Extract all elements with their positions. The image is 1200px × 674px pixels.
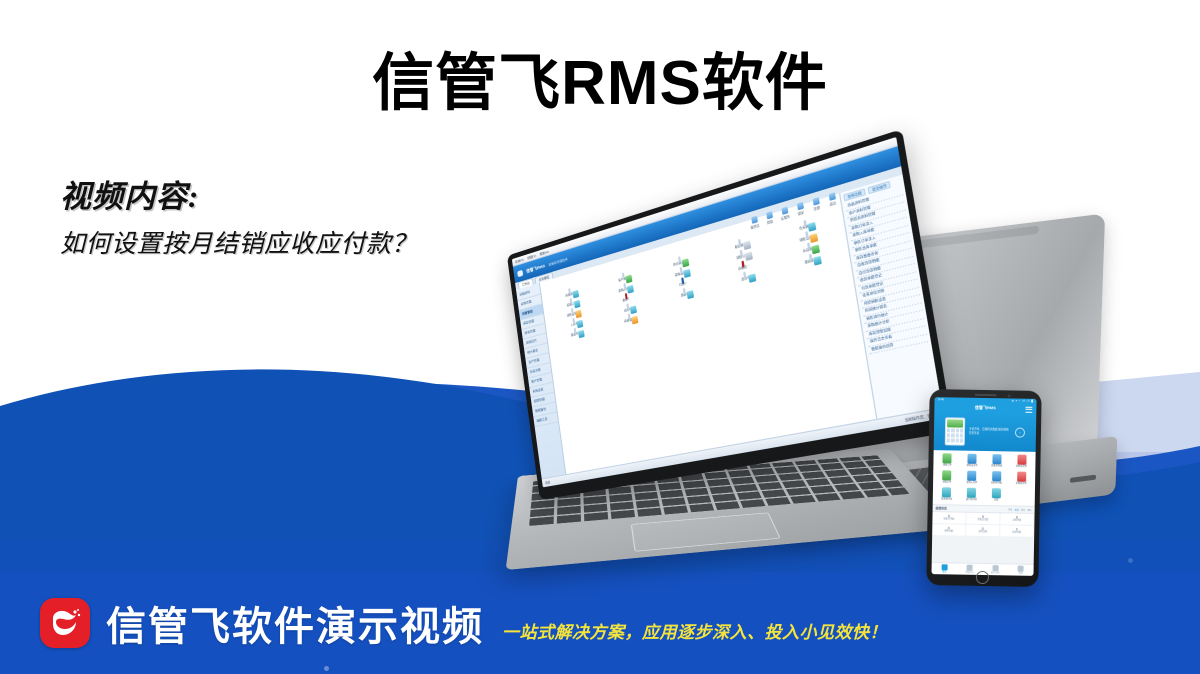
app-logo-icon bbox=[517, 269, 523, 276]
exit-icon bbox=[828, 192, 835, 201]
phone-grid-label: 销售订单 bbox=[935, 464, 959, 467]
phone-section-filters: 今日 本周 本月 本年 bbox=[1008, 507, 1032, 511]
phone-screen: 15:40 ◍ ▾ ⌁ ıll ıll ▓ 信管飞RMS 手机开单、云端同步数据… bbox=[931, 397, 1036, 576]
filter-month[interactable]: 本月 bbox=[1021, 508, 1025, 512]
phone-camera-icon bbox=[1008, 394, 1011, 397]
sales-order-icon bbox=[943, 453, 952, 463]
stat-label: 销售金额 bbox=[932, 530, 965, 534]
footer-brand-name: 信管飞软件演示视频 bbox=[106, 594, 484, 652]
phone-grid-label: 采购单列表 bbox=[985, 482, 1009, 485]
phone-grid-item-4[interactable]: 采购订单 bbox=[935, 470, 959, 484]
grid-tile-icon bbox=[683, 288, 686, 295]
sales-outbound-icon bbox=[968, 454, 977, 464]
rear-laptop-hinge bbox=[909, 226, 1039, 250]
grid-tile-icon bbox=[744, 271, 747, 278]
cash-payment-icon bbox=[942, 487, 951, 497]
phone-banner: 手机开单、云端同步数据 随时随地掌控生意 ⌕ bbox=[934, 412, 1037, 452]
doc-icon bbox=[967, 565, 973, 571]
all-apps-icon bbox=[992, 488, 1001, 498]
phone-app-title: 信管飞RMS bbox=[975, 405, 996, 411]
toolbar-register-button[interactable]: 注册 bbox=[810, 197, 822, 212]
stat-label: 采购单数 bbox=[1000, 519, 1033, 523]
phone-grid-label: 采购订单 bbox=[935, 481, 959, 484]
cloud-icon bbox=[781, 207, 788, 215]
stat-label: 销售订单数 bbox=[932, 518, 965, 522]
grid-tile-icon bbox=[742, 260, 745, 267]
grid-tile-icon bbox=[626, 303, 629, 310]
stat-cell-0: 0销售订单数 bbox=[932, 512, 966, 525]
search-icon[interactable]: ⌕ bbox=[1015, 428, 1025, 438]
phone-grid-item-6[interactable]: 采购单列表 bbox=[985, 471, 1009, 485]
purchase-inbound-icon bbox=[967, 471, 976, 481]
phone-grid-label: 采购入库单 bbox=[960, 482, 984, 485]
phone-illustration-icon bbox=[945, 417, 965, 445]
stat-label: 销售出库数 bbox=[966, 519, 999, 523]
phone-grid-label: 采购退货单 bbox=[1009, 482, 1033, 485]
toolbar-label-2: 云服务 bbox=[781, 215, 791, 221]
stat-cell-2: 0采购单数 bbox=[1000, 513, 1034, 526]
phone-grid-label: 全部 bbox=[984, 499, 1008, 502]
phone-grid-item-3[interactable]: 销售退货单 bbox=[1010, 454, 1034, 468]
filter-today[interactable]: 今日 bbox=[1008, 507, 1012, 511]
phone-grid-label: 销售退货单 bbox=[1010, 465, 1034, 468]
video-content-label: 视频内容: bbox=[60, 178, 580, 215]
key-icon bbox=[812, 197, 819, 206]
toolbar-help-button[interactable]: 帮助 bbox=[764, 211, 775, 226]
lock-icon bbox=[796, 202, 803, 211]
grid-tile-icon bbox=[568, 288, 571, 294]
phone-status-time: 15:40 bbox=[938, 398, 945, 401]
grid-tile-icon bbox=[678, 256, 681, 263]
footer-bar: 信管飞软件演示视频 一站式解决方案，应用逐步深入、投入小见效快！ bbox=[0, 572, 1200, 674]
status-left-text: 就绪 bbox=[545, 480, 551, 485]
app-brand-subtitle: 进销存管理软件 bbox=[548, 256, 568, 266]
app-brand-name: 信管飞RMS bbox=[526, 263, 545, 275]
sales-return-icon bbox=[1017, 455, 1026, 465]
toolbar-label-5: 退出 bbox=[829, 202, 836, 207]
stat-label: 收款金额 bbox=[1000, 531, 1033, 535]
slide-canvas: 信管飞RMS软件 视频内容: 如何设置按月结销应收应付款？ bbox=[0, 0, 1200, 674]
bank-payment-icon bbox=[967, 488, 976, 498]
sales-list-icon bbox=[992, 454, 1001, 464]
stat-cell-5: 0收款金额 bbox=[1000, 525, 1034, 538]
device-mockups: 系统(S) 视图(V) 帮助(H) 信管飞RMS 进销存管理软件 工作台 主功能… bbox=[540, 214, 1200, 634]
phone-grid-item-0[interactable]: 销售订单 bbox=[935, 453, 959, 467]
phone-grid-item-7[interactable]: 采购退货单 bbox=[1009, 471, 1033, 485]
phone-grid-label: 销售单列表 bbox=[985, 465, 1009, 468]
chart-icon bbox=[992, 565, 998, 571]
toolbar-lock-button[interactable]: 锁定 bbox=[794, 201, 806, 216]
purchase-order-icon bbox=[943, 470, 952, 480]
page-title: 信管飞RMS软件 bbox=[0, 48, 1200, 119]
grid-tile-icon bbox=[680, 267, 683, 274]
filter-year[interactable]: 本年 bbox=[1027, 508, 1031, 512]
stat-label: 采购金额 bbox=[966, 531, 999, 535]
grid-tile-icon bbox=[803, 220, 807, 227]
toolbar-label-1: 帮助 bbox=[767, 220, 774, 225]
toolbar-label-0: 操作员 bbox=[750, 224, 759, 230]
laptop-trackpad[interactable] bbox=[631, 512, 781, 551]
toolbar-label-4: 注册 bbox=[813, 206, 820, 211]
toolbar-cloud-button[interactable]: 云服务 bbox=[779, 206, 790, 221]
home-icon bbox=[941, 564, 947, 570]
phone-grid-item-10[interactable]: 全部 bbox=[984, 488, 1008, 502]
grid-tile-icon bbox=[624, 293, 627, 300]
grid-tile-icon bbox=[623, 283, 626, 290]
purchase-return-icon bbox=[1017, 472, 1026, 482]
grid-tile-icon bbox=[627, 314, 630, 321]
grid-tile-icon bbox=[573, 318, 576, 324]
phone-earpiece bbox=[975, 394, 997, 397]
phone-device: 15:40 ◍ ▾ ⌁ ıll ıll ▓ 信管飞RMS 手机开单、云端同步数据… bbox=[926, 389, 1041, 587]
doc-icon bbox=[766, 211, 773, 219]
phone-grid-item-1[interactable]: 销售出库单 bbox=[960, 454, 984, 468]
phone-grid-item-2[interactable]: 销售单列表 bbox=[985, 454, 1009, 468]
video-content-question: 如何设置按月结销应收应付款？ bbox=[60, 229, 580, 260]
front-laptop: 系统(S) 视图(V) 帮助(H) 信管飞RMS 进销存管理软件 工作台 主功能… bbox=[540, 248, 980, 628]
grid-tile-icon bbox=[807, 242, 811, 249]
phone-icon-grid: 销售订单 销售出库单 销售单列表 销售退货单 采购订单 采购入库单 采购单列表 … bbox=[933, 450, 1036, 506]
grid-tile-icon bbox=[621, 273, 624, 280]
toolbar-operator-button[interactable]: 操作员 bbox=[749, 215, 760, 230]
grid-tile-icon bbox=[571, 308, 574, 314]
phone-grid-item-8[interactable]: 现金收付款 bbox=[935, 487, 959, 501]
phone-banner-text: 手机开单、云端同步数据 随时随地掌控生意 bbox=[969, 428, 1011, 437]
toolbar-label-3: 锁定 bbox=[798, 211, 805, 216]
phone-grid-item-9[interactable]: 银行收付款 bbox=[960, 488, 984, 502]
footer-tagline: 一站式解决方案，应用逐步深入、投入小见效快！ bbox=[502, 618, 887, 643]
toolbar-exit-button[interactable]: 退出 bbox=[826, 192, 838, 207]
person-icon bbox=[1018, 566, 1024, 572]
purchase-list-icon bbox=[992, 471, 1001, 481]
user-icon bbox=[751, 216, 758, 224]
grid-tile-icon bbox=[805, 231, 809, 238]
filter-week[interactable]: 本周 bbox=[1014, 508, 1018, 512]
grid-tile-icon bbox=[809, 254, 813, 261]
grid-tile-icon bbox=[570, 298, 573, 304]
stat-cell-3: 0销售金额 bbox=[932, 524, 966, 537]
phone-grid-label: 销售出库单 bbox=[960, 465, 984, 468]
video-content-block: 视频内容: 如何设置按月结销应收应付款？ bbox=[60, 178, 580, 260]
phone-stats-grid: 0销售订单数 0销售出库数 0采购单数 0销售金额 0采购金额 0收款金额 bbox=[932, 512, 1034, 538]
stat-cell-4: 0采购金额 bbox=[966, 525, 1000, 538]
xinguanfei-bird-logo-icon bbox=[40, 598, 90, 648]
phone-section-title: 经营状况 bbox=[936, 506, 947, 510]
phone-grid-label: 银行收付款 bbox=[960, 499, 984, 502]
stat-cell-1: 0销售出库数 bbox=[966, 513, 1000, 526]
grid-tile-icon bbox=[574, 328, 577, 334]
phone-grid-item-5[interactable]: 采购入库单 bbox=[960, 471, 984, 485]
grid-tile-icon bbox=[681, 277, 684, 284]
phone-status-icons: ◍ ▾ ⌁ ıll ıll ▓ bbox=[1012, 399, 1034, 402]
phone-grid-label: 现金收付款 bbox=[935, 498, 959, 501]
